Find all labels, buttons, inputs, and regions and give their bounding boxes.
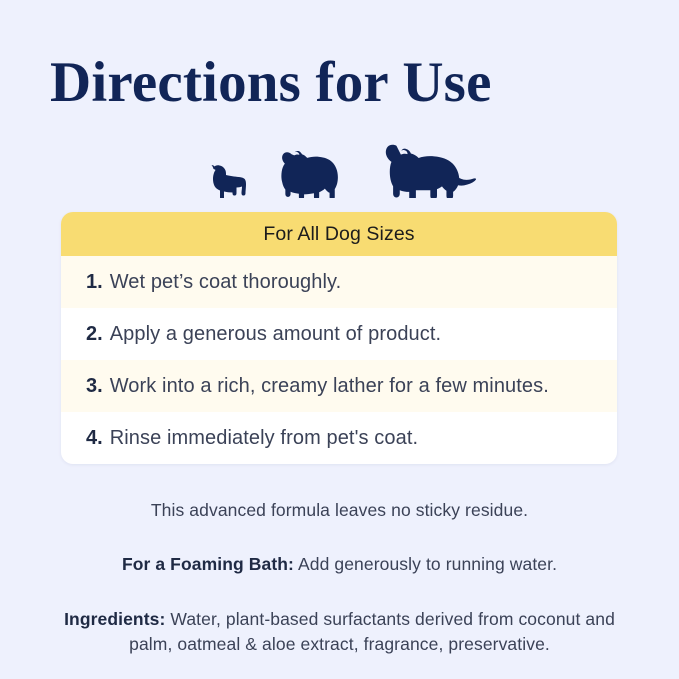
table-row: 1. Wet pet’s coat thoroughly.	[61, 256, 617, 308]
step-number: 4.	[86, 427, 103, 450]
table-row: 2. Apply a generous amount of product.	[61, 308, 617, 360]
step-number: 3.	[86, 375, 103, 398]
step-text: Work into a rich, creamy lather for a fe…	[110, 375, 549, 398]
table-row: 3. Work into a rich, creamy lather for a…	[61, 360, 617, 412]
ingredients-note: Ingredients: Water, plant-based surfacta…	[0, 607, 679, 657]
foaming-bath-label: For a Foaming Bath:	[122, 554, 294, 574]
directions-card: For All Dog Sizes 1. Wet pet’s coat thor…	[61, 212, 617, 464]
page-title: Directions for Use	[50, 50, 492, 116]
step-number: 1.	[86, 271, 103, 294]
step-text: Rinse immediately from pet's coat.	[110, 427, 418, 450]
medium-dog-silhouette-icon	[276, 148, 354, 198]
directions-for-use-page: Directions for Use For All Dog Sizes 1. …	[0, 0, 679, 679]
residue-note: This advanced formula leaves no sticky r…	[0, 500, 679, 521]
dog-size-illustration	[0, 136, 679, 198]
ingredients-text: Water, plant-based surfactants derived f…	[129, 609, 615, 654]
footer-notes: This advanced formula leaves no sticky r…	[0, 500, 679, 657]
small-dog-silhouette-icon	[198, 164, 248, 198]
step-text: Wet pet’s coat thoroughly.	[110, 271, 342, 294]
step-text: Apply a generous amount of product.	[110, 323, 442, 346]
step-number: 2.	[86, 323, 103, 346]
ingredients-label: Ingredients:	[64, 609, 165, 629]
foaming-bath-note: For a Foaming Bath: Add generously to ru…	[0, 554, 679, 575]
foaming-bath-text: Add generously to running water.	[294, 554, 557, 574]
table-row: 4. Rinse immediately from pet's coat.	[61, 412, 617, 464]
large-dog-silhouette-icon	[382, 138, 482, 198]
card-header-label: For All Dog Sizes	[263, 223, 414, 246]
card-header: For All Dog Sizes	[61, 212, 617, 256]
